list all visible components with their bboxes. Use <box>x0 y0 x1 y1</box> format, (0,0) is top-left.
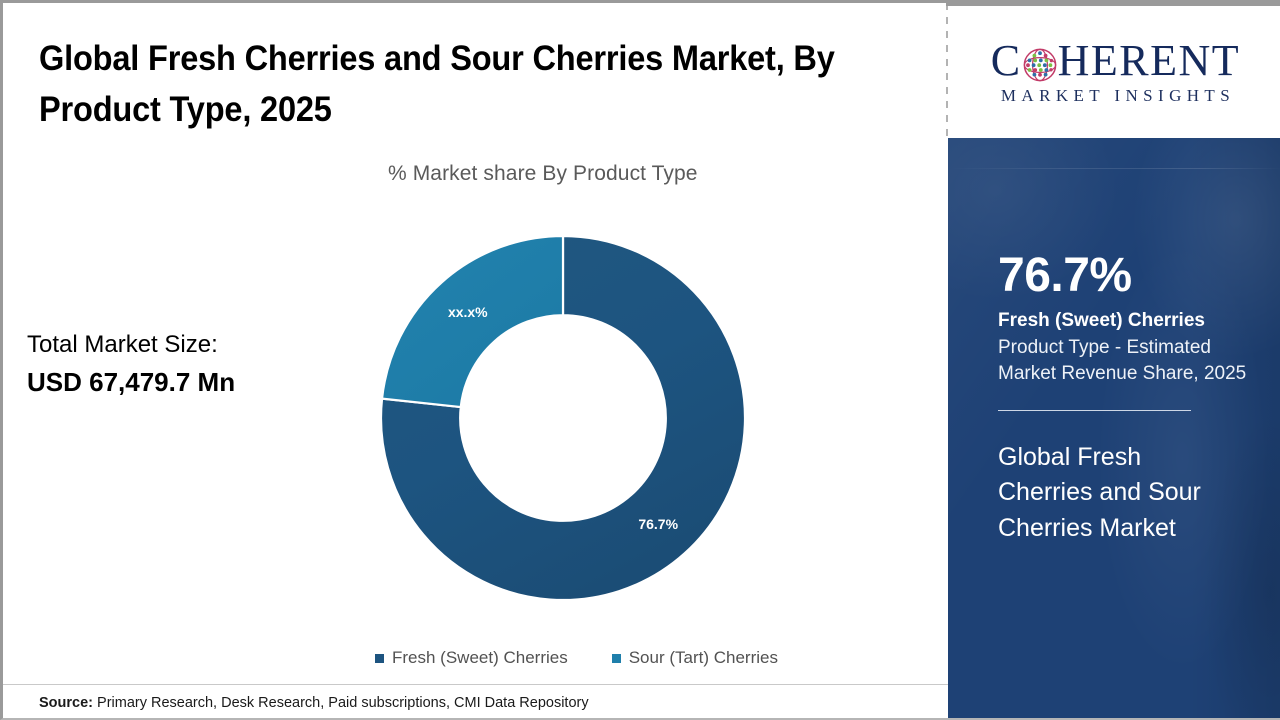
logo-tagline: MARKET INSIGHTS <box>996 86 1235 106</box>
stat-divider <box>998 410 1191 411</box>
logo-word-before: C <box>991 39 1022 83</box>
sidebar-panel: 76.7% Fresh (Sweet) Cherries Product Typ… <box>948 138 1280 720</box>
logo-word-after: HERENT <box>1058 39 1241 83</box>
donut-label-fresh-sweet-cherries: 76.7% <box>638 516 678 532</box>
legend-label: Fresh (Sweet) Cherries <box>392 648 568 668</box>
logo-wordmark: C <box>991 39 1240 83</box>
source-line: Source: Primary Research, Desk Research,… <box>39 695 589 711</box>
source-text: Primary Research, Desk Research, Paid su… <box>93 695 589 711</box>
brand-logo[interactable]: C <box>948 6 1280 138</box>
total-market-size-value: USD 67,479.7 Mn <box>27 362 287 402</box>
dotted-globe-icon <box>1023 46 1057 80</box>
legend-item-fresh-sweet-cherries[interactable]: Fresh (Sweet) Cherries <box>375 648 568 668</box>
total-market-size-block: Total Market Size: USD 67,479.7 Mn <box>27 328 287 402</box>
footer-divider <box>3 684 948 685</box>
stat-description: Product Type - Estimated Market Revenue … <box>998 335 1250 387</box>
donut-chart: 76.7% xx.x% <box>381 236 745 600</box>
stat-headline: Fresh (Sweet) Cherries <box>998 309 1280 333</box>
chart-subtitle: % Market share By Product Type <box>388 162 698 186</box>
total-market-size-label: Total Market Size: <box>27 328 287 362</box>
main-content-area: Global Fresh Cherries and Sour Cherries … <box>3 3 948 720</box>
page-title: Global Fresh Cherries and Sour Cherries … <box>39 33 857 135</box>
donut-label-sour-tart-cherries: xx.x% <box>448 304 488 320</box>
sidebar-report-title: Global Fresh Cherries and Sour Cherries … <box>998 440 1223 547</box>
legend-swatch-icon <box>612 654 621 663</box>
source-label: Source: <box>39 695 93 711</box>
infographic-canvas: Global Fresh Cherries and Sour Cherries … <box>0 0 1280 720</box>
stat-value: 76.7% <box>998 251 1280 301</box>
legend-swatch-icon <box>375 654 384 663</box>
sidebar-content: 76.7% Fresh (Sweet) Cherries Product Typ… <box>948 138 1280 546</box>
sidebar: C <box>948 3 1280 720</box>
legend-item-sour-tart-cherries[interactable]: Sour (Tart) Cherries <box>612 648 778 668</box>
chart-legend: Fresh (Sweet) Cherries Sour (Tart) Cherr… <box>375 648 778 668</box>
legend-label: Sour (Tart) Cherries <box>629 648 778 668</box>
donut-slice-sour-tart-cherries[interactable] <box>382 236 563 407</box>
donut-chart-svg: 76.7% xx.x% <box>381 236 745 600</box>
